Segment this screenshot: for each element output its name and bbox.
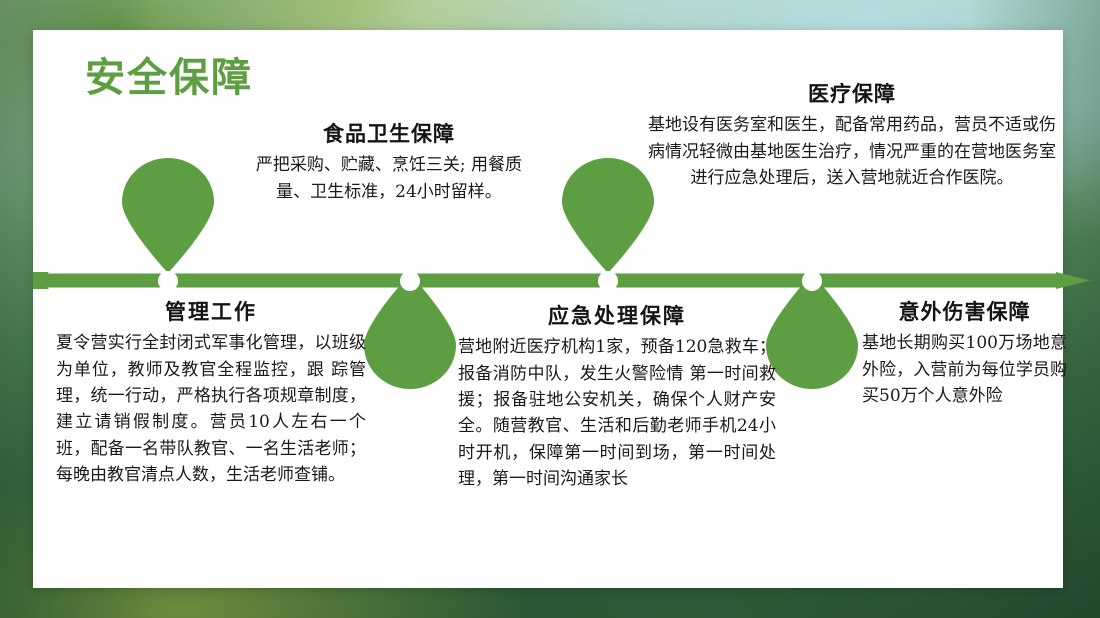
section-body-emergency: 营地附近医疗机构1家，预备120急救车；报备消防中队，发生火警险情 第一时间救援… xyxy=(458,334,776,492)
section-title-accident-insurance: 意外伤害保障 xyxy=(862,300,1067,326)
section-body-management: 夏令营实行全封闭式军事化管理，以班级为单位，教师及教官全程监控，跟 踪管理，统一… xyxy=(56,330,366,488)
section-title-emergency: 应急处理保障 xyxy=(458,304,776,330)
timeline-pin-emergency xyxy=(364,274,456,389)
timeline-arrow xyxy=(33,272,1090,289)
section-title-food-hygiene: 食品卫生保障 xyxy=(244,122,534,148)
section-body-accident-insurance: 基地长期购买100万场地意外险，入营前为每位学员购买50万个人意外险 xyxy=(862,330,1067,409)
timeline-node-emergency xyxy=(400,271,420,291)
section-body-medical: 基地设有医务室和医生，配备常用药品，营员不适或伤病情况轻微由基地医生治疗，情况严… xyxy=(646,112,1058,191)
timeline-node-food xyxy=(158,271,178,291)
section-medical: 医疗保障 基地设有医务室和医生，配备常用药品，营员不适或伤病情况轻微由基地医生治… xyxy=(646,82,1058,191)
timeline-pin-accident xyxy=(766,274,858,389)
timeline-pin-food xyxy=(122,158,214,273)
section-title-medical: 医疗保障 xyxy=(646,82,1058,108)
section-title-management: 管理工作 xyxy=(56,300,366,326)
timeline-pin-medical xyxy=(562,158,654,273)
timeline-node-medical xyxy=(598,271,618,291)
section-food-hygiene: 食品卫生保障 严把采购、贮藏、烹饪三关; 用餐质量、卫生标准，24小时留样。 xyxy=(244,122,534,205)
slide-root: 安全保障 食品卫生保障 严把采购、贮藏、烹 xyxy=(0,0,1100,618)
section-accident-insurance: 意外伤害保障 基地长期购买100万场地意外险，入营前为每位学员购买50万个人意外… xyxy=(862,300,1067,409)
section-emergency: 应急处理保障 营地附近医疗机构1家，预备120急救车；报备消防中队，发生火警险情… xyxy=(458,304,776,492)
section-management: 管理工作 夏令营实行全封闭式军事化管理，以班级为单位，教师及教官全程监控，跟 踪… xyxy=(56,300,366,488)
page-title: 安全保障 xyxy=(85,58,253,98)
timeline-node-accident xyxy=(802,271,822,291)
section-body-food-hygiene: 严把采购、贮藏、烹饪三关; 用餐质量、卫生标准，24小时留样。 xyxy=(244,152,534,205)
